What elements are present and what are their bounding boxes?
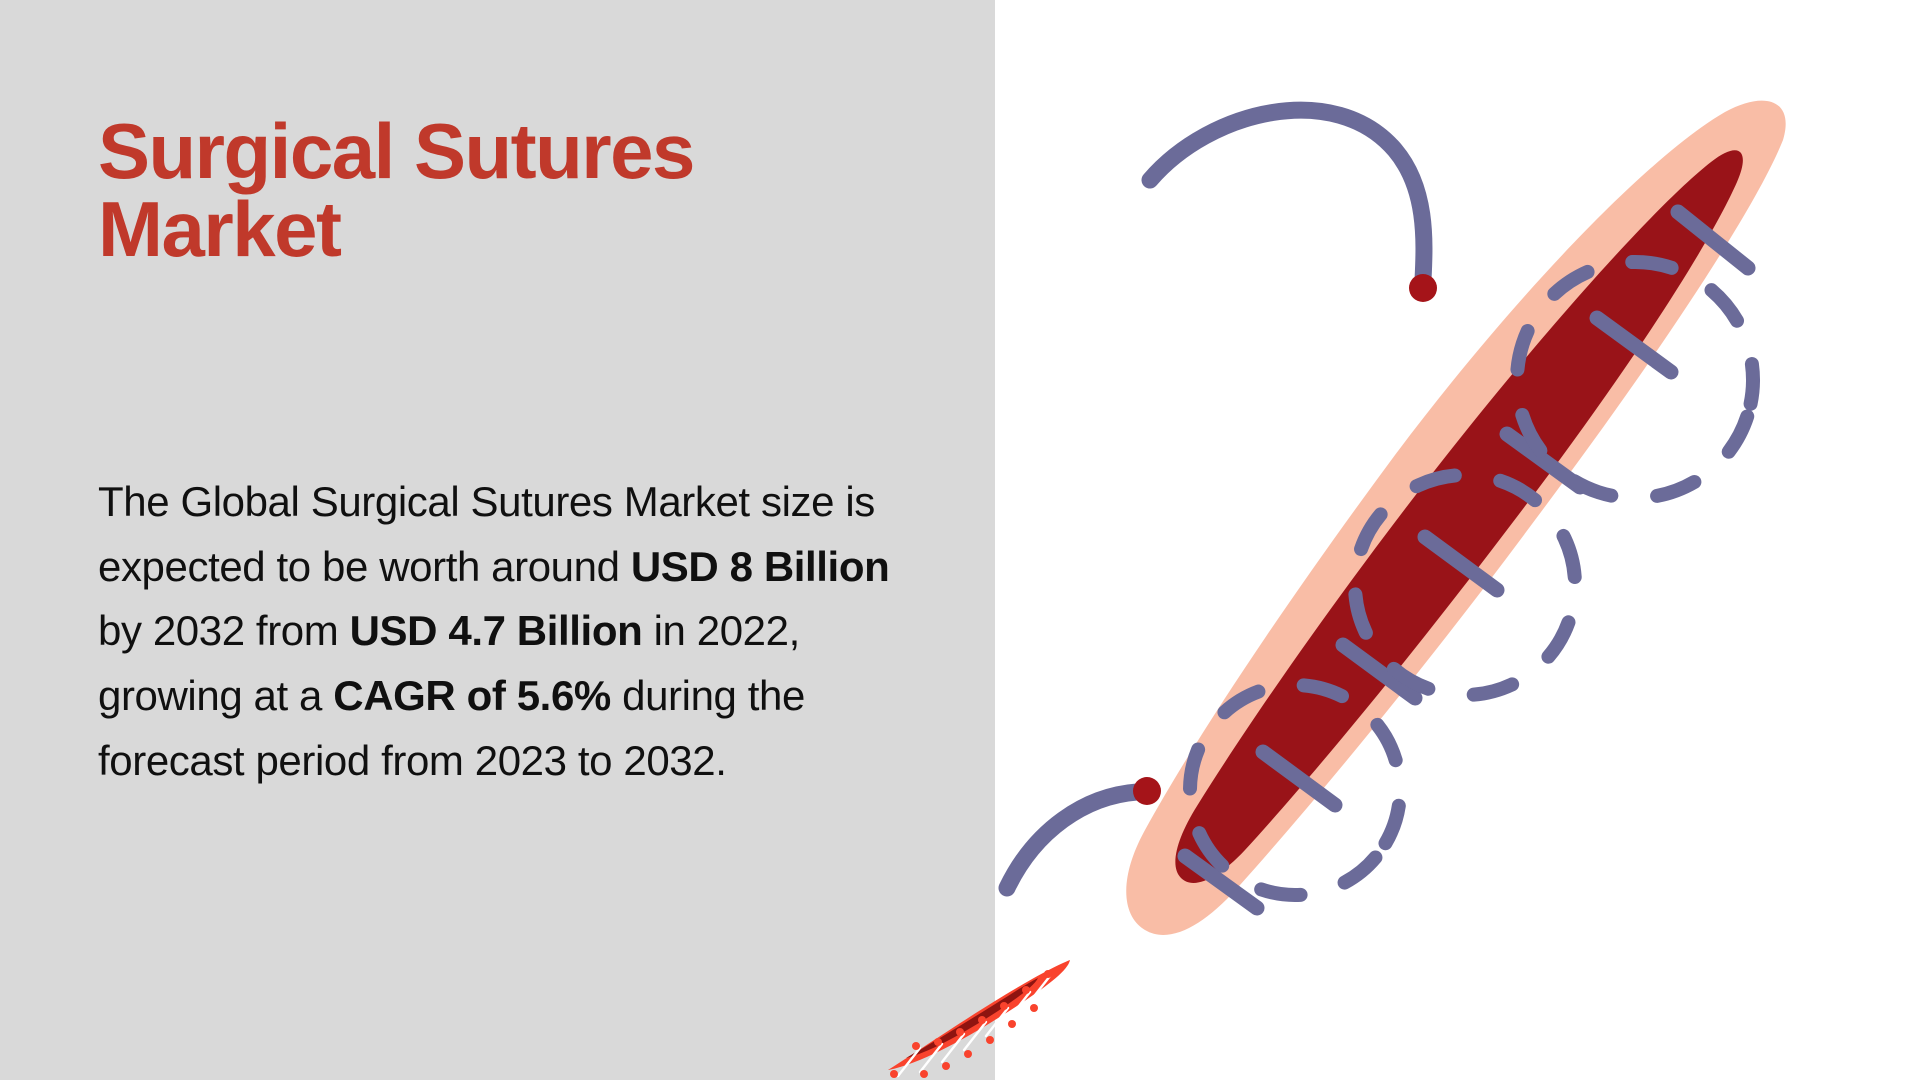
small-needle-dot: [978, 1016, 986, 1024]
small-needle-dot: [956, 1028, 964, 1036]
needle-thread-top: [1150, 110, 1437, 302]
small-needle-dot: [920, 1070, 928, 1078]
small-needle-dot: [1000, 1002, 1008, 1010]
highlight-value-2032: USD 8 Billion: [631, 543, 890, 590]
page-title: Surgical SuturesMarket: [98, 112, 898, 268]
small-sutured-wound-illustration: [880, 950, 1080, 1080]
small-needle-dot: [890, 1070, 898, 1078]
highlight-cagr: CAGR of 5.6%: [333, 672, 611, 719]
small-needle-dot: [1044, 970, 1052, 978]
sutured-wound-illustration: [995, 0, 1920, 1080]
small-needle-dot: [912, 1042, 920, 1050]
highlight-value-2022: USD 4.7 Billion: [350, 607, 643, 654]
small-needle-dot: [934, 1038, 942, 1046]
small-needle-dot: [942, 1062, 950, 1070]
small-needle-dot: [1022, 986, 1030, 994]
small-needle-dot: [986, 1036, 994, 1044]
page-title-line-2: Market: [98, 185, 340, 273]
small-needle-dot: [1008, 1020, 1016, 1028]
needle-thread-curve: [1007, 792, 1137, 888]
page-title-line-1: Surgical Sutures: [98, 107, 694, 195]
infographic-page: Surgical SuturesMarket The Global Surgic…: [0, 0, 1920, 1080]
summary-text-part-2: by 2032 from: [98, 607, 350, 654]
small-needle-dot: [964, 1050, 972, 1058]
small-needle-dot: [1030, 1004, 1038, 1012]
market-summary-paragraph: The Global Surgical Sutures Market size …: [98, 470, 898, 793]
needle-entry-dot: [1133, 777, 1161, 805]
needle-entry-dot: [1409, 274, 1437, 302]
needle-thread-curve: [1150, 110, 1424, 280]
